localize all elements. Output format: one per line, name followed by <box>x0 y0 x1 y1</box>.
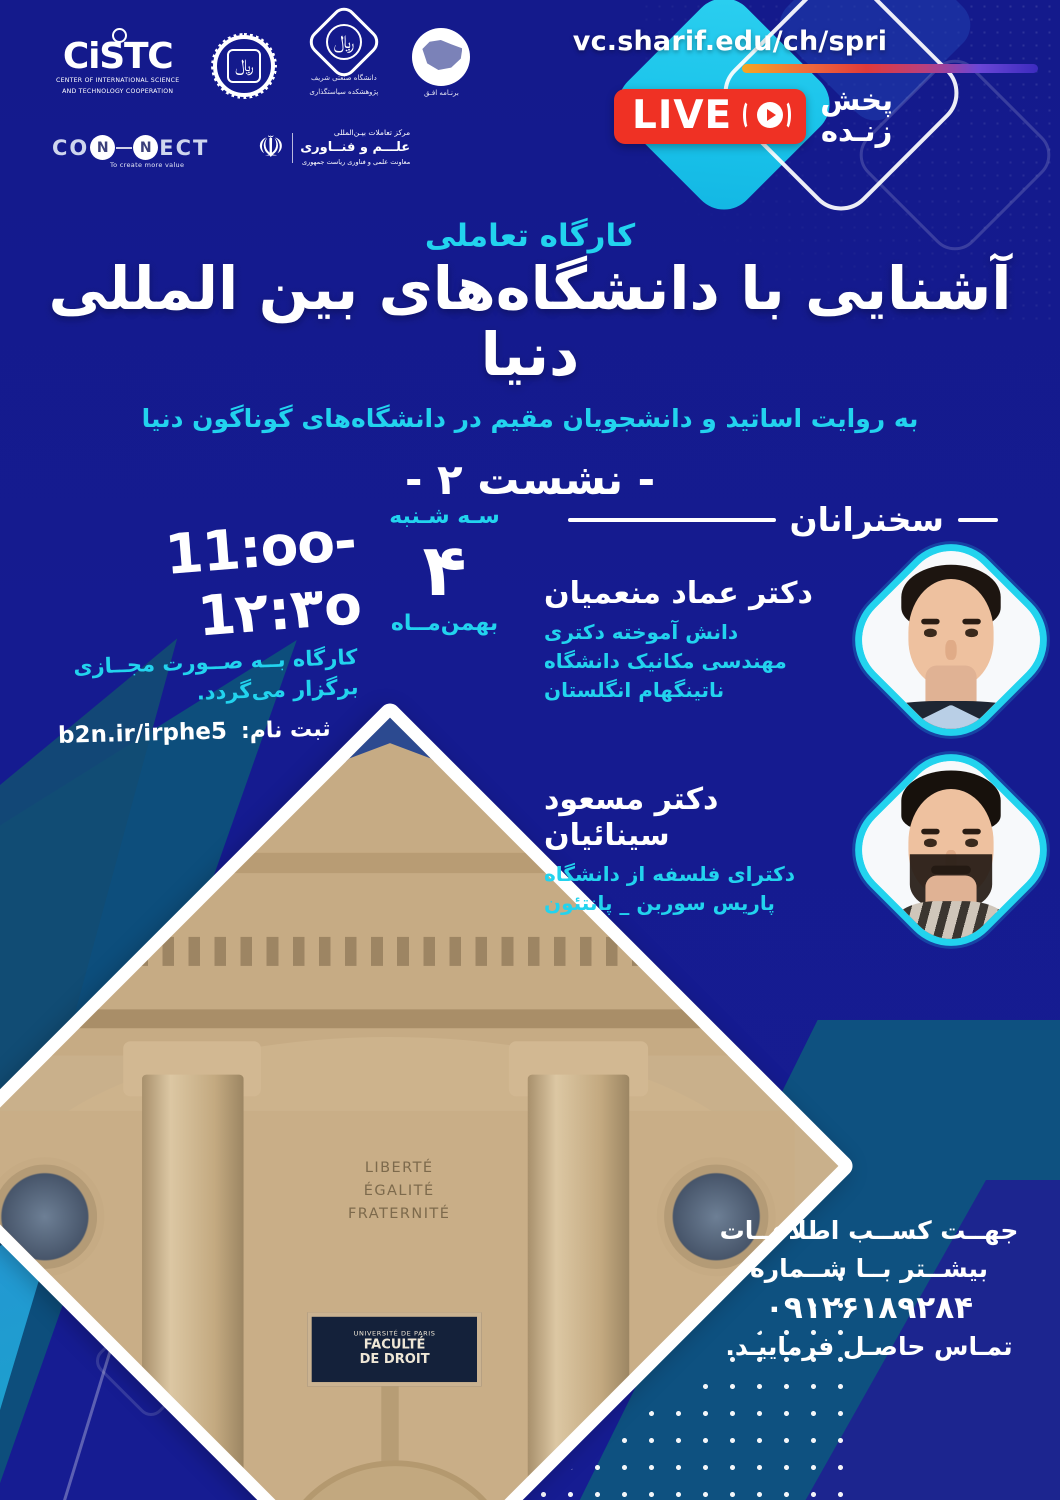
connect-ect-text: ECT <box>159 136 209 160</box>
logo-row-secondary: مرکز تعاملات بیـن‌المللی علـــم و فنــاو… <box>52 128 410 167</box>
isti-logo: مرکز تعاملات بیـن‌المللی علـــم و فنــاو… <box>257 128 410 167</box>
logo-row-primary: برنـامه افـق ﷼ دانشگاه صنعتی شریف پژوهشک… <box>56 14 470 97</box>
contact-block: جهــت کســب اطلاعــات بیشــتر بــا شــما… <box>714 1212 1024 1366</box>
live-broadcast-block: vc.sharif.edu/ch/spri LIVE پخش زنـده <box>518 26 1038 148</box>
isti-line1: مرکز تعاملات بیـن‌المللی <box>300 128 410 139</box>
speakers-section: سخنرانان دکتر عماد منعمیان دا <box>540 500 1060 933</box>
iran-emblem-icon: ☫ <box>257 133 293 163</box>
heading-rule-right <box>958 518 998 522</box>
speaker-bio: دانش آموخته دکتری مهندسی مکانیک دانشگاه … <box>544 618 850 705</box>
speaker-name: دکتر عماد منعمیان <box>544 576 850 612</box>
globe-icon <box>412 28 470 86</box>
month-name: بهمن‌مــاه <box>372 611 517 636</box>
connect-link-icon <box>116 147 132 149</box>
portrait-illustration <box>843 742 1059 958</box>
speaker-bio-line1: دانش آموخته دکتری <box>544 618 850 647</box>
gear-icon: ﷼ <box>213 35 275 97</box>
poster-headline: کارگاه تعاملی آشنایی با دانشگاه‌های بین … <box>0 218 1060 504</box>
sharif-logo-caption-line2: پژوهشکده سیاستگذاری <box>309 87 378 98</box>
speaker-bio-line3: ناتینگهام انگلستان <box>544 676 850 705</box>
cistc-subtitle-line1: CENTER OF INTERNATIONAL SCIENCE <box>56 76 179 86</box>
contact-line1: جهــت کســب اطلاعــات <box>714 1212 1024 1250</box>
contact-line2: بیشــتر بــا شــماره <box>714 1250 1024 1288</box>
sharif-logo-caption-line1: دانشگاه صنعتی شریف <box>311 73 377 84</box>
ofogh-program-logo: برنـامه افـق <box>412 28 470 97</box>
connect-co-text: CO <box>52 136 89 160</box>
portrait-illustration <box>843 532 1059 748</box>
isti-line2: علـــم و فنــاوری <box>300 139 410 158</box>
speaker-photo-inner <box>843 742 1059 958</box>
day-number: ۴ <box>372 533 517 609</box>
contact-line3: تمـاس حاصـل فرماییـد. <box>714 1328 1024 1366</box>
speaker-bio-line2: مهندسی مکانیک دانشگاه <box>544 647 850 676</box>
speaker-bio-line1: دکترای فلسفه از دانشگاه <box>544 860 850 889</box>
event-poster: vc.sharif.edu/ch/spri LIVE پخش زنـده برن… <box>0 0 1060 1500</box>
live-badge[interactable]: LIVE <box>614 89 806 144</box>
time-column: 11:oo-1۲:۳o کارگاه بــه صــورت مجــازی ب… <box>58 508 358 741</box>
connect-node-icon-1: N <box>90 135 115 160</box>
headline-subtitle: به روایت اساتید و دانشجویان مقیم در دانش… <box>0 404 1060 433</box>
live-badge-row: LIVE پخش زنـده <box>518 85 1038 148</box>
cistc-subtitle-line2: AND TECHNOLOGY COOPERATION <box>62 87 173 97</box>
speaker-card: دکتر عماد منعمیان دانش آموخته دکتری مهند… <box>540 557 1060 723</box>
registration-link[interactable]: b2n.ir/irphe5 <box>58 718 227 748</box>
cistc-logo: CiSTC CENTER OF INTERNATIONAL SCIENCE AN… <box>56 28 179 97</box>
motto-line3: FRATERNITÉ <box>298 1203 500 1226</box>
cistc-wordmark: CiSTC <box>63 40 173 74</box>
registration-label: ثبت نام: <box>241 716 331 743</box>
speaker-text: دکتر عماد منعمیان دانش آموخته دکتری مهند… <box>540 576 850 705</box>
live-caption: پخش زنـده <box>820 85 893 148</box>
connect-tagline: To create more value <box>110 161 184 169</box>
isti-line3: معاونت علمی و فناوری ریاست جمهوری <box>300 158 410 167</box>
session-number: - نشست ۲ - <box>0 455 1060 504</box>
gradient-underline <box>742 64 1038 73</box>
page-title: آشنایی با دانشگاه‌های بین المللی دنیا <box>0 256 1060 388</box>
motto-line2: ÉGALITÉ <box>298 1180 500 1203</box>
motto-line1: LIBERTÉ <box>298 1157 500 1180</box>
heading-rule-left <box>568 518 776 522</box>
speaker-photo-emad-monemian <box>834 523 1060 758</box>
broadcast-url[interactable]: vc.sharif.edu/ch/spri <box>518 26 1038 57</box>
contact-phone[interactable]: ۰۹۱۲۶۱۸۹۲۸۴ <box>714 1290 1024 1326</box>
date-column: سـه شـنبه ۴ بهمن‌مــاه <box>372 504 517 636</box>
speaker-bio: دکترای فلسفه از دانشگاه پاریس سوربن _ پا… <box>544 860 850 918</box>
building-motto: LIBERTÉ ÉGALITÉ FRATERNITÉ <box>298 1157 500 1227</box>
sharif-university-logo: ﷼ دانشگاه صنعتی شریف پژوهشکده سیاستگذاری <box>309 14 378 97</box>
speaker-text: دکتر مسعود سینائیان دکترای فلسفه از دانش… <box>540 782 850 918</box>
day-of-week: سـه شـنبه <box>372 504 517 529</box>
virtual-note: کارگاه بــه صــورت مجــازی برگزار می‌گرد… <box>57 642 359 713</box>
live-caption-line2: زنـده <box>820 116 893 147</box>
event-time: 11:oo-1۲:۳o <box>54 508 363 659</box>
headline-kicker: کارگاه تعاملی <box>0 218 1060 254</box>
speakers-heading: سخنرانان <box>790 500 945 539</box>
broadcast-icon <box>744 98 790 132</box>
building-nameplate: UNIVERSITÉ DE PARIS FACULTÉ DE DROIT <box>307 1313 482 1387</box>
live-caption-line1: پخش <box>820 85 893 116</box>
sharif-diamond-icon: ﷼ <box>304 2 383 81</box>
sponsor-logo-bar: برنـامه افـق ﷼ دانشگاه صنعتی شریف پژوهشک… <box>0 0 560 200</box>
isti-text-block: مرکز تعاملات بیـن‌المللی علـــم و فنــاو… <box>300 128 410 167</box>
connect-node-icon-2: N <box>133 135 158 160</box>
connect-logo: CO N N ECT To create more value <box>52 135 209 160</box>
speakers-heading-row: سخنرانان <box>540 500 1060 539</box>
speaker-photo-inner <box>843 532 1059 748</box>
sharif-inner-glyph: ﷼ <box>326 24 362 60</box>
speaker-name: دکتر مسعود سینائیان <box>544 782 850 854</box>
ofogh-logo-caption: برنـامه افـق <box>424 89 459 97</box>
nameplate-line1: UNIVERSITÉ DE PARIS <box>354 1331 436 1338</box>
speaker-card: دکتر مسعود سینائیان دکترای فلسفه از دانش… <box>540 767 1060 933</box>
live-label: LIVE <box>632 96 732 135</box>
nameplate-line2: FACULTÉ <box>364 1338 426 1353</box>
nameplate-line3: DE DROIT <box>360 1353 430 1368</box>
sharif-emblem-logo: ﷼ <box>213 35 275 97</box>
speaker-photo-masoud-sinaeian <box>834 733 1060 968</box>
speaker-bio-line2: پاریس سوربن _ پانتئون <box>544 889 850 918</box>
gear-inner-glyph: ﷼ <box>227 49 261 83</box>
